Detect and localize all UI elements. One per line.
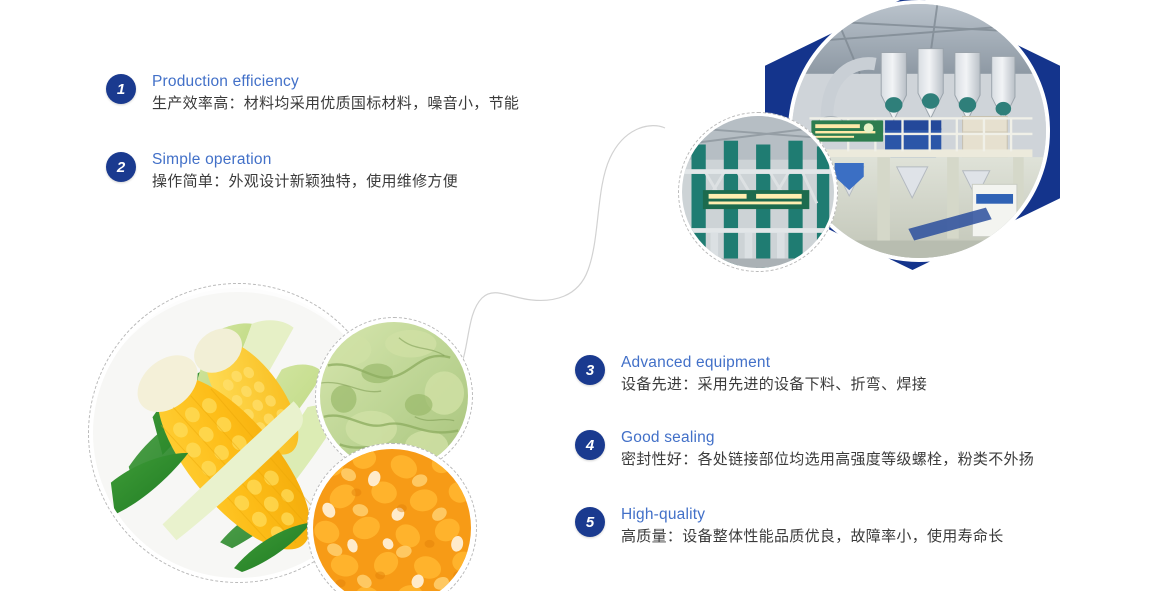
feature-item-3[interactable]: 3 Advanced equipment 设备先进：采用先进的设备下料、折弯、焊…: [575, 353, 927, 395]
feature-item-4[interactable]: 4 Good sealing 密封性好：各处链接部位均选用高强度等级螺栓，粉类不…: [575, 428, 1034, 470]
feature-title-en: Good sealing: [621, 428, 1034, 448]
feature-number-badge: 1: [106, 74, 136, 104]
feature-number-badge: 2: [106, 152, 136, 182]
feature-item-1[interactable]: 1 Production efficiency 生产效率高：材料均采用优质国标材…: [106, 72, 519, 114]
feature-text-block: Advanced equipment 设备先进：采用先进的设备下料、折弯、焊接: [621, 353, 927, 395]
feature-desc-cn: 高质量：设备整体性能品质优良，故障率小，使用寿命长: [621, 526, 1004, 547]
green-milling-plant-photo: [678, 112, 838, 272]
feature-desc-cn: 操作简单：外观设计新颖独特，使用维修方便: [152, 171, 458, 192]
feature-number-badge: 3: [575, 355, 605, 385]
feature-desc-cn: 生产效率高：材料均采用优质国标材料，噪音小，节能: [152, 93, 519, 114]
equipment-photo-cluster: [660, 0, 1080, 284]
feature-infographic: 1 Production efficiency 生产效率高：材料均采用优质国标材…: [0, 0, 1154, 591]
feature-item-2[interactable]: 2 Simple operation 操作简单：外观设计新颖独特，使用维修方便: [106, 150, 458, 192]
feature-item-5[interactable]: 5 High-quality 高质量：设备整体性能品质优良，故障率小，使用寿命长: [575, 505, 1004, 547]
feature-desc-cn: 设备先进：采用先进的设备下料、折弯、焊接: [621, 374, 927, 395]
feature-text-block: High-quality 高质量：设备整体性能品质优良，故障率小，使用寿命长: [621, 505, 1004, 547]
feature-text-block: Good sealing 密封性好：各处链接部位均选用高强度等级螺栓，粉类不外扬: [621, 428, 1034, 470]
feature-desc-cn: 密封性好：各处链接部位均选用高强度等级螺栓，粉类不外扬: [621, 449, 1034, 470]
feature-text-block: Simple operation 操作简单：外观设计新颖独特，使用维修方便: [152, 150, 458, 192]
feature-title-en: High-quality: [621, 505, 1004, 525]
feature-title-en: Simple operation: [152, 150, 458, 170]
feature-text-block: Production efficiency 生产效率高：材料均采用优质国标材料，…: [152, 72, 519, 114]
feature-title-en: Advanced equipment: [621, 353, 927, 373]
feature-number-badge: 5: [575, 507, 605, 537]
corn-product-photo-cluster: [88, 283, 508, 591]
feature-number-badge: 4: [575, 430, 605, 460]
feature-title-en: Production efficiency: [152, 72, 519, 92]
